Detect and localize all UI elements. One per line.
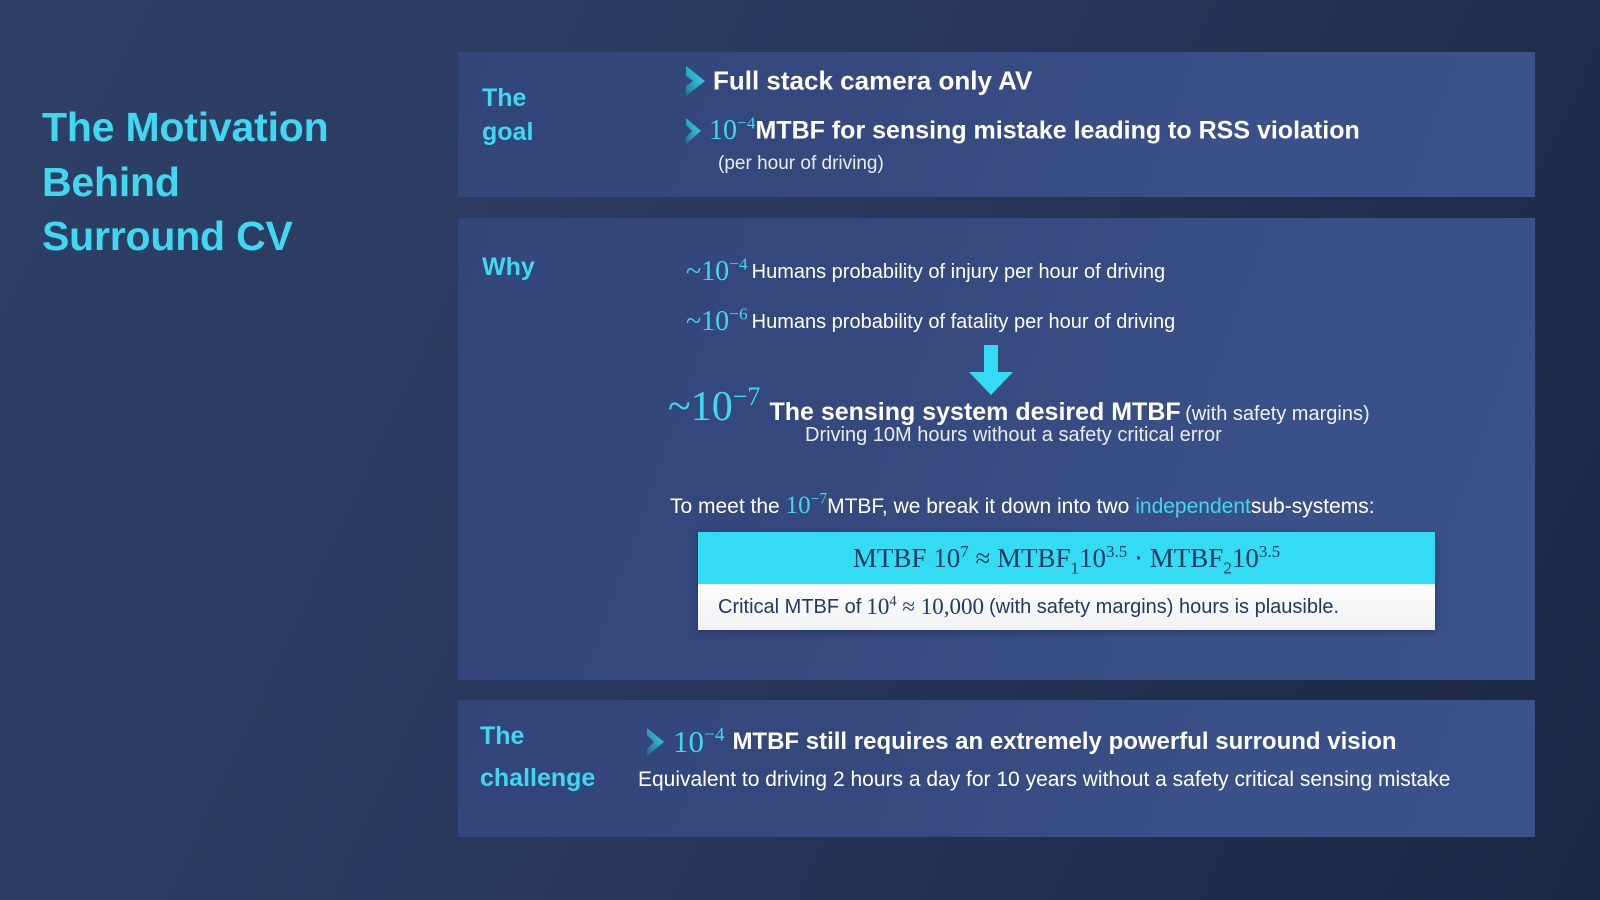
panel-the-challenge: The challenge 10−4MTBF still requires an… (458, 700, 1535, 837)
formula-note-before: Critical MTBF of (718, 596, 861, 619)
goal-bullet-row-2: 10−4MTBF for sensing mistake leading to … (683, 115, 1360, 147)
chevron-right-icon (683, 116, 709, 146)
challenge-label-line-2: challenge (480, 762, 595, 796)
challenge-row-1: 10−4MTBF still requires an extremely pow… (643, 724, 1397, 760)
slide-canvas: The Motivation Behind Surround CV The go… (0, 0, 1600, 900)
formula-note-after: (with safety margins) hours is plausible… (989, 596, 1339, 619)
challenge-row-2: Equivalent to driving 2 hours a day for … (638, 768, 1450, 792)
goal-label-line-2: goal (482, 116, 533, 150)
breakdown-emphasis: independent (1135, 495, 1251, 518)
why-main-parenthetical: (with safety margins) (1185, 403, 1370, 425)
goal-bullet-row-1: Full stack camera only AV (683, 64, 1032, 98)
why-breakdown-text: To meet the 10−7MTBF, we break it down i… (670, 492, 1375, 520)
title-line-1: The Motivation (42, 100, 442, 155)
goal-bullet-2-text: MTBF for sensing mistake leading to RSS … (755, 117, 1359, 145)
title-line-3: Surround CV (42, 209, 442, 264)
breakdown-middle: MTBF, we break it down into two (827, 495, 1129, 518)
breakdown-value: 10−7 (786, 492, 828, 519)
why-stat-injury: ~10−4Humans probability of injury per ho… (686, 256, 1165, 288)
formula-note-value: 104 ≈ 10,000 (866, 594, 984, 620)
goal-bullet-1-text: Full stack camera only AV (713, 66, 1032, 96)
panel-why: Why ~10−4Humans probability of injury pe… (458, 218, 1535, 680)
goal-label-line-1: The (482, 82, 533, 116)
formula-equation: MTBF 107 ≈ MTBF1103.5 · MTBF2103.5 (853, 543, 1280, 574)
why-stat-1-value: ~10−4 (686, 256, 748, 287)
challenge-mtbf-value: 10−4 (673, 724, 724, 759)
why-stat-2-text: Humans probability of fatality per hour … (752, 311, 1176, 333)
formula-header: MTBF 107 ≈ MTBF1103.5 · MTBF2103.5 (698, 532, 1435, 584)
formula-note: Critical MTBF of 104 ≈ 10,000 (with safe… (698, 584, 1435, 630)
challenge-row-1-text: MTBF still requires an extremely powerfu… (732, 728, 1396, 755)
challenge-label-line-1: The (480, 720, 524, 754)
goal-mtbf-exponent: 10−4 (709, 115, 755, 146)
why-main-headline: The sensing system desired MTBF (769, 398, 1180, 426)
goal-note: (per hour of driving) (718, 153, 884, 175)
chevron-right-icon (683, 64, 713, 98)
formula-box: MTBF 107 ≈ MTBF1103.5 · MTBF2103.5 Criti… (698, 532, 1435, 630)
why-stat-1-text: Humans probability of injury per hour of… (752, 261, 1166, 283)
title-line-2: Behind (42, 155, 442, 210)
breakdown-before: To meet the (670, 495, 780, 518)
why-stat-2-value: ~10−6 (686, 306, 748, 337)
panel-the-goal: The goal Full stack camera only AV (458, 52, 1535, 197)
breakdown-after: sub-systems: (1251, 495, 1375, 518)
goal-label: The goal (482, 82, 533, 150)
page-title: The Motivation Behind Surround CV (42, 100, 442, 264)
chevron-right-icon (643, 725, 673, 759)
why-stat-fatality: ~10−6Humans probability of fatality per … (686, 306, 1175, 338)
why-label: Why (482, 251, 535, 285)
why-main-value: ~10−7 (668, 384, 760, 430)
why-main-subtext: Driving 10M hours without a safety criti… (805, 424, 1222, 447)
